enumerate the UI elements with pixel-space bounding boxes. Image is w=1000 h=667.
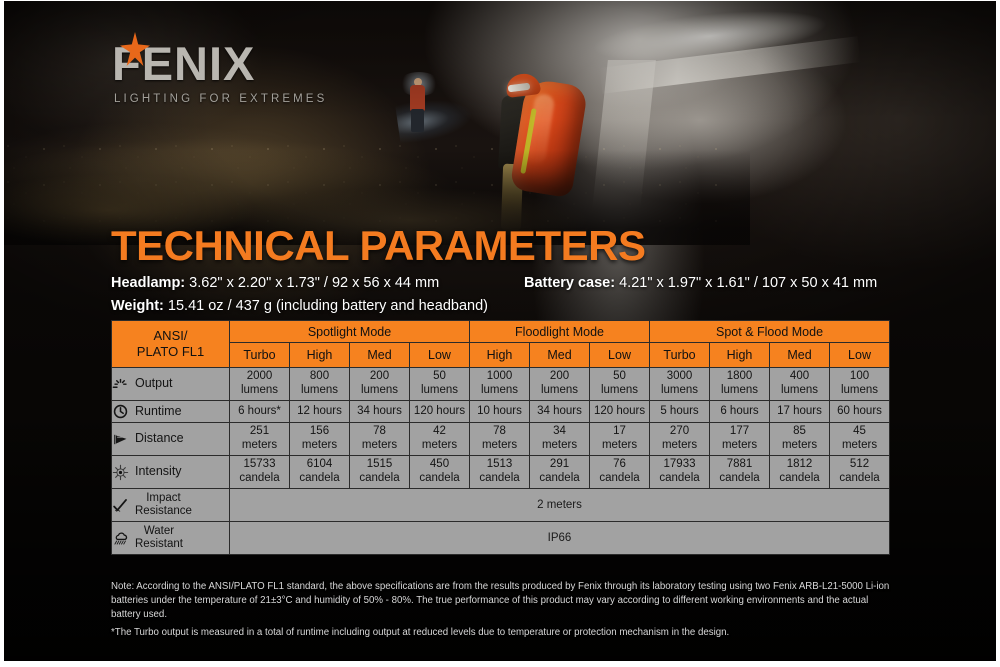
cell-runtime-8: 5 hours xyxy=(650,401,710,423)
cell-intensity-6: 291candela xyxy=(530,456,590,489)
light-burst-icon xyxy=(112,376,129,393)
technical-parameters-table: ANSI/PLATO FL1Spotlight ModeFloodlight M… xyxy=(111,320,890,555)
table-row: Runtime6 hours*12 hours34 hours120 hours… xyxy=(112,401,890,423)
beam-distance-icon xyxy=(112,431,129,448)
cell-output-10: 400lumens xyxy=(770,368,830,401)
cell-impact-value: 2 meters xyxy=(230,489,890,522)
row-label-text: Distance xyxy=(135,432,184,446)
page-frame-bottom xyxy=(0,661,1000,667)
fenix-star-icon xyxy=(120,32,150,66)
fenix-wordmark: FENIX xyxy=(112,40,372,87)
fenix-tagline: LIGHTING FOR EXTREMES xyxy=(114,93,372,105)
row-label-intensity: Intensity xyxy=(112,456,230,489)
table-row: Output2000lumens800lumens200lumens50lume… xyxy=(112,368,890,401)
page-frame-right xyxy=(996,0,1000,667)
cell-output-8: 3000lumens xyxy=(650,368,710,401)
battery-case-dimensions-label: Battery case: xyxy=(524,275,615,291)
footnote-paragraph: Note: According to the ANSI/PLATO FL1 st… xyxy=(111,580,893,621)
cell-output-3: 200lumens xyxy=(350,368,410,401)
weight-label: Weight: xyxy=(111,298,164,314)
row-label-text: Runtime xyxy=(135,405,182,419)
mode-group-header-1: Spotlight Mode xyxy=(230,321,470,343)
mode-header-1-2: High xyxy=(290,343,350,368)
mode-group-header-3: Spot & Flood Mode xyxy=(650,321,890,343)
battery-case-dimensions-value: 4.21" x 1.97" x 1.61" / 107 x 50 x 41 mm xyxy=(619,275,877,291)
cell-runtime-11: 60 hours xyxy=(830,401,890,423)
cell-intensity-7: 76candela xyxy=(590,456,650,489)
table-row: WaterResistantIP66 xyxy=(112,522,890,555)
cell-distance-2: 156meters xyxy=(290,423,350,456)
cell-runtime-2: 12 hours xyxy=(290,401,350,423)
cell-runtime-4: 120 hours xyxy=(410,401,470,423)
mode-header-2-3: Low xyxy=(590,343,650,368)
cell-output-9: 1800lumens xyxy=(710,368,770,401)
cell-runtime-7: 120 hours xyxy=(590,401,650,423)
cell-intensity-4: 450candela xyxy=(410,456,470,489)
row-label-text: Intensity xyxy=(135,465,182,479)
battery-case-dimensions: Battery case: 4.21" x 1.97" x 1.61" / 10… xyxy=(524,276,877,291)
ansi-label-line2: PLATO FL1 xyxy=(137,344,204,359)
cell-distance-7: 17meters xyxy=(590,423,650,456)
row-label-output: Output xyxy=(112,368,230,401)
checkmark-icon xyxy=(112,497,129,514)
cell-intensity-8: 17933candela xyxy=(650,456,710,489)
mode-header-1-4: Low xyxy=(410,343,470,368)
cell-intensity-3: 1515candela xyxy=(350,456,410,489)
cell-water-value: IP66 xyxy=(230,522,890,555)
spec-sheet-page: FENIX LIGHTING FOR EXTREMES TECHNICAL PA… xyxy=(0,0,1000,667)
cell-intensity-2: 6104candela xyxy=(290,456,350,489)
weight-value: 15.41 oz / 437 g (including battery and … xyxy=(168,298,488,314)
footnote-block: Note: According to the ANSI/PLATO FL1 st… xyxy=(111,580,893,640)
cell-intensity-11: 512candela xyxy=(830,456,890,489)
mode-header-3-1: Turbo xyxy=(650,343,710,368)
ansi-label-line1: ANSI/ xyxy=(154,328,188,343)
headlamp-dimensions-value: 3.62" x 2.20" x 1.73" / 92 x 56 x 44 mm xyxy=(189,275,439,291)
cell-output-4: 50lumens xyxy=(410,368,470,401)
table-row: Intensity15733candela6104candela1515cand… xyxy=(112,456,890,489)
row-label-text: Output xyxy=(135,377,173,391)
row-label-impact: ImpactResistance xyxy=(112,489,230,522)
cell-runtime-1: 6 hours* xyxy=(230,401,290,423)
page-frame-left xyxy=(0,0,4,667)
cell-runtime-5: 10 hours xyxy=(470,401,530,423)
cell-output-11: 100lumens xyxy=(830,368,890,401)
clock-icon xyxy=(112,403,129,420)
intensity-starburst-icon xyxy=(112,464,129,481)
headlamp-dimensions-label: Headlamp: xyxy=(111,275,185,291)
cell-distance-1: 251meters xyxy=(230,423,290,456)
cell-runtime-6: 34 hours xyxy=(530,401,590,423)
cell-output-6: 200lumens xyxy=(530,368,590,401)
cell-intensity-1: 15733candela xyxy=(230,456,290,489)
cell-output-2: 800lumens xyxy=(290,368,350,401)
cell-intensity-5: 1513candela xyxy=(470,456,530,489)
mode-header-3-2: High xyxy=(710,343,770,368)
cell-distance-4: 42meters xyxy=(410,423,470,456)
table-header-group-row: ANSI/PLATO FL1Spotlight ModeFloodlight M… xyxy=(112,321,890,343)
table-row: ImpactResistance2 meters xyxy=(112,489,890,522)
mode-header-3-4: Low xyxy=(830,343,890,368)
mode-header-2-2: Med xyxy=(530,343,590,368)
headlamp-dimensions: Headlamp: 3.62" x 2.20" x 1.73" / 92 x 5… xyxy=(111,276,439,291)
cell-runtime-9: 6 hours xyxy=(710,401,770,423)
mode-header-1-3: Med xyxy=(350,343,410,368)
row-label-text: WaterResistant xyxy=(135,525,183,550)
mode-header-2-1: High xyxy=(470,343,530,368)
cell-output-7: 50lumens xyxy=(590,368,650,401)
ansi-plato-corner-label: ANSI/PLATO FL1 xyxy=(112,321,230,368)
row-label-text: ImpactResistance xyxy=(135,492,192,517)
cell-distance-5: 78meters xyxy=(470,423,530,456)
cell-output-5: 1000lumens xyxy=(470,368,530,401)
rain-cloud-icon xyxy=(112,530,129,547)
fenix-logo: FENIX LIGHTING FOR EXTREMES xyxy=(112,40,372,105)
weight-spec: Weight: 15.41 oz / 437 g (including batt… xyxy=(111,299,488,314)
footnote-asterisk: *The Turbo output is measured in a total… xyxy=(111,626,893,640)
mode-header-3-3: Med xyxy=(770,343,830,368)
cell-intensity-9: 7881candela xyxy=(710,456,770,489)
cell-intensity-10: 1812candela xyxy=(770,456,830,489)
cell-output-1: 2000lumens xyxy=(230,368,290,401)
table-row: Distance251meters156meters78meters42mete… xyxy=(112,423,890,456)
page-title: TECHNICAL PARAMETERS xyxy=(111,225,645,267)
cell-distance-8: 270meters xyxy=(650,423,710,456)
cell-runtime-10: 17 hours xyxy=(770,401,830,423)
cell-distance-9: 177meters xyxy=(710,423,770,456)
cell-distance-3: 78meters xyxy=(350,423,410,456)
row-label-runtime: Runtime xyxy=(112,401,230,423)
cell-distance-6: 34meters xyxy=(530,423,590,456)
mode-header-1-1: Turbo xyxy=(230,343,290,368)
mode-group-header-2: Floodlight Mode xyxy=(470,321,650,343)
cell-runtime-3: 34 hours xyxy=(350,401,410,423)
cell-distance-11: 45meters xyxy=(830,423,890,456)
row-label-water: WaterResistant xyxy=(112,522,230,555)
page-frame-top xyxy=(0,0,1000,1)
cell-distance-10: 85meters xyxy=(770,423,830,456)
row-label-distance: Distance xyxy=(112,423,230,456)
